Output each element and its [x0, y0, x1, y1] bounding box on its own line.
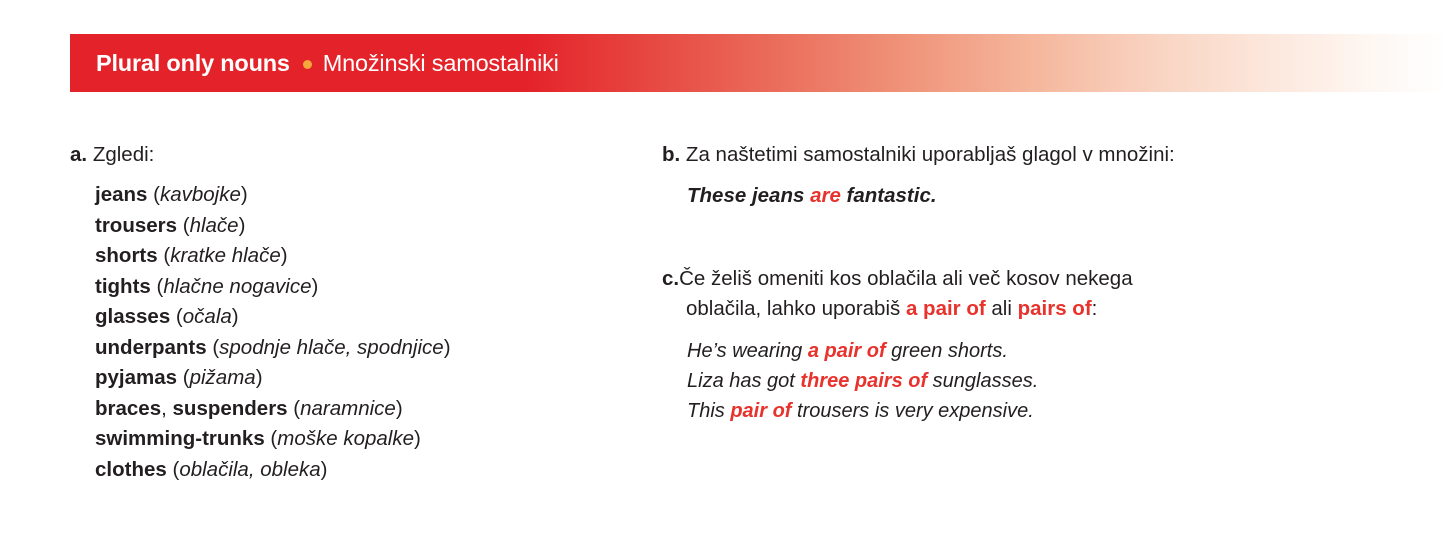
example-sentence: These jeans are fantastic.: [687, 181, 1362, 211]
list-item: clothes (oblačila, obleka): [95, 455, 650, 486]
section-c-heading-line2-pre: oblačila, lahko uporabiš: [686, 297, 906, 320]
section-c: c.Če želiš omeniti kos oblačila ali več …: [662, 264, 1362, 426]
word-en: shorts: [95, 244, 158, 267]
list-item: jeans (kavbojke): [95, 180, 650, 211]
word-sl: spodnje hlače, spodnjice: [219, 336, 444, 359]
word-en: tights: [95, 275, 151, 298]
example-sentence: This pair of trousers is very expensive.: [687, 396, 1362, 426]
list-item: braces, suspenders (naramnice): [95, 394, 650, 425]
section-a-letter: a.: [70, 143, 87, 166]
example-highlight: three pairs of: [800, 370, 927, 392]
word-sl: moške kopalke: [277, 427, 414, 450]
word-en: clothes: [95, 458, 167, 481]
list-item: pyjamas (pižama): [95, 363, 650, 394]
example-post: trousers is very expensive.: [791, 400, 1033, 422]
section-c-heading-line2-mid: ali: [986, 297, 1018, 320]
word-sl: očala: [183, 305, 232, 328]
page-title-en: Plural only nouns: [96, 50, 290, 77]
example-sentence: He’s wearing a pair of green shorts.: [687, 336, 1362, 366]
list-item: trousers (hlače): [95, 211, 650, 242]
section-a: a. Zgledi: jeans (kavbojke) trousers (hl…: [70, 140, 650, 485]
list-item: glasses (očala): [95, 302, 650, 333]
word-sl: oblačila, obleka: [179, 458, 320, 481]
example-post: sunglasses.: [927, 370, 1038, 392]
section-b-heading-text: Za naštetimi samostalniki uporabljaš gla…: [686, 143, 1175, 166]
list-item: tights (hlačne nogavice): [95, 272, 650, 303]
example-highlight: a pair of: [808, 340, 886, 362]
right-column: b. Za naštetimi samostalniki uporabljaš …: [662, 140, 1362, 426]
word-en: glasses: [95, 305, 170, 328]
list-item: underpants (spodnje hlače, spodnjice): [95, 333, 650, 364]
section-c-heading: c.Če želiš omeniti kos oblačila ali več …: [662, 264, 1362, 324]
word-en: jeans: [95, 183, 147, 206]
page-title-sl: Množinski samostalniki: [323, 50, 559, 77]
word-en: pyjamas: [95, 366, 177, 389]
example-sentence: Liza has got three pairs of sunglasses.: [687, 366, 1362, 396]
section-c-heading-line1: Če želiš omeniti kos oblačila ali več ko…: [679, 267, 1133, 290]
word-sl: kratke hlače: [170, 244, 281, 267]
section-c-examples: He’s wearing a pair of green shorts. Liz…: [662, 336, 1362, 426]
example-pre: Liza has got: [687, 370, 800, 392]
section-b-heading: b. Za naštetimi samostalniki uporabljaš …: [662, 140, 1362, 169]
word-en-alt: suspenders: [173, 397, 288, 420]
word-sl: kavbojke: [160, 183, 241, 206]
example-pre: These jeans: [687, 184, 810, 207]
section-c-highlight-2: pairs of: [1018, 297, 1092, 320]
section-b-letter: b.: [662, 143, 680, 166]
plural-noun-list: jeans (kavbojke) trousers (hlače) shorts…: [70, 180, 650, 485]
section-c-heading-line2-post: :: [1092, 297, 1098, 320]
word-sl: pižama: [190, 366, 256, 389]
word-en: trousers: [95, 214, 177, 237]
page-header-banner: Plural only nouns Množinski samostalniki: [70, 34, 1448, 92]
word-sl: naramnice: [300, 397, 396, 420]
section-c-highlight-1: a pair of: [906, 297, 986, 320]
section-b-examples: These jeans are fantastic.: [662, 181, 1362, 211]
dot-separator-icon: [303, 60, 312, 69]
left-column: a. Zgledi: jeans (kavbojke) trousers (hl…: [70, 140, 650, 485]
word-en: swimming-trunks: [95, 427, 265, 450]
word-sl: hlačne nogavice: [163, 275, 311, 298]
word-sl: hlače: [190, 214, 239, 237]
section-a-heading-text: Zgledi:: [93, 143, 155, 166]
word-en: braces: [95, 397, 161, 420]
section-b: b. Za naštetimi samostalniki uporabljaš …: [662, 140, 1362, 211]
word-en: underpants: [95, 336, 207, 359]
example-pre: He’s wearing: [687, 340, 808, 362]
section-c-letter: c.: [662, 267, 679, 290]
list-item: shorts (kratke hlače): [95, 241, 650, 272]
example-post: green shorts.: [886, 340, 1008, 362]
example-post: fantastic.: [841, 184, 937, 207]
example-pre: This: [687, 400, 730, 422]
section-a-heading: a. Zgledi:: [70, 140, 650, 169]
example-highlight: are: [810, 184, 841, 207]
list-item: swimming-trunks (moške kopalke): [95, 424, 650, 455]
example-highlight: pair of: [730, 400, 791, 422]
